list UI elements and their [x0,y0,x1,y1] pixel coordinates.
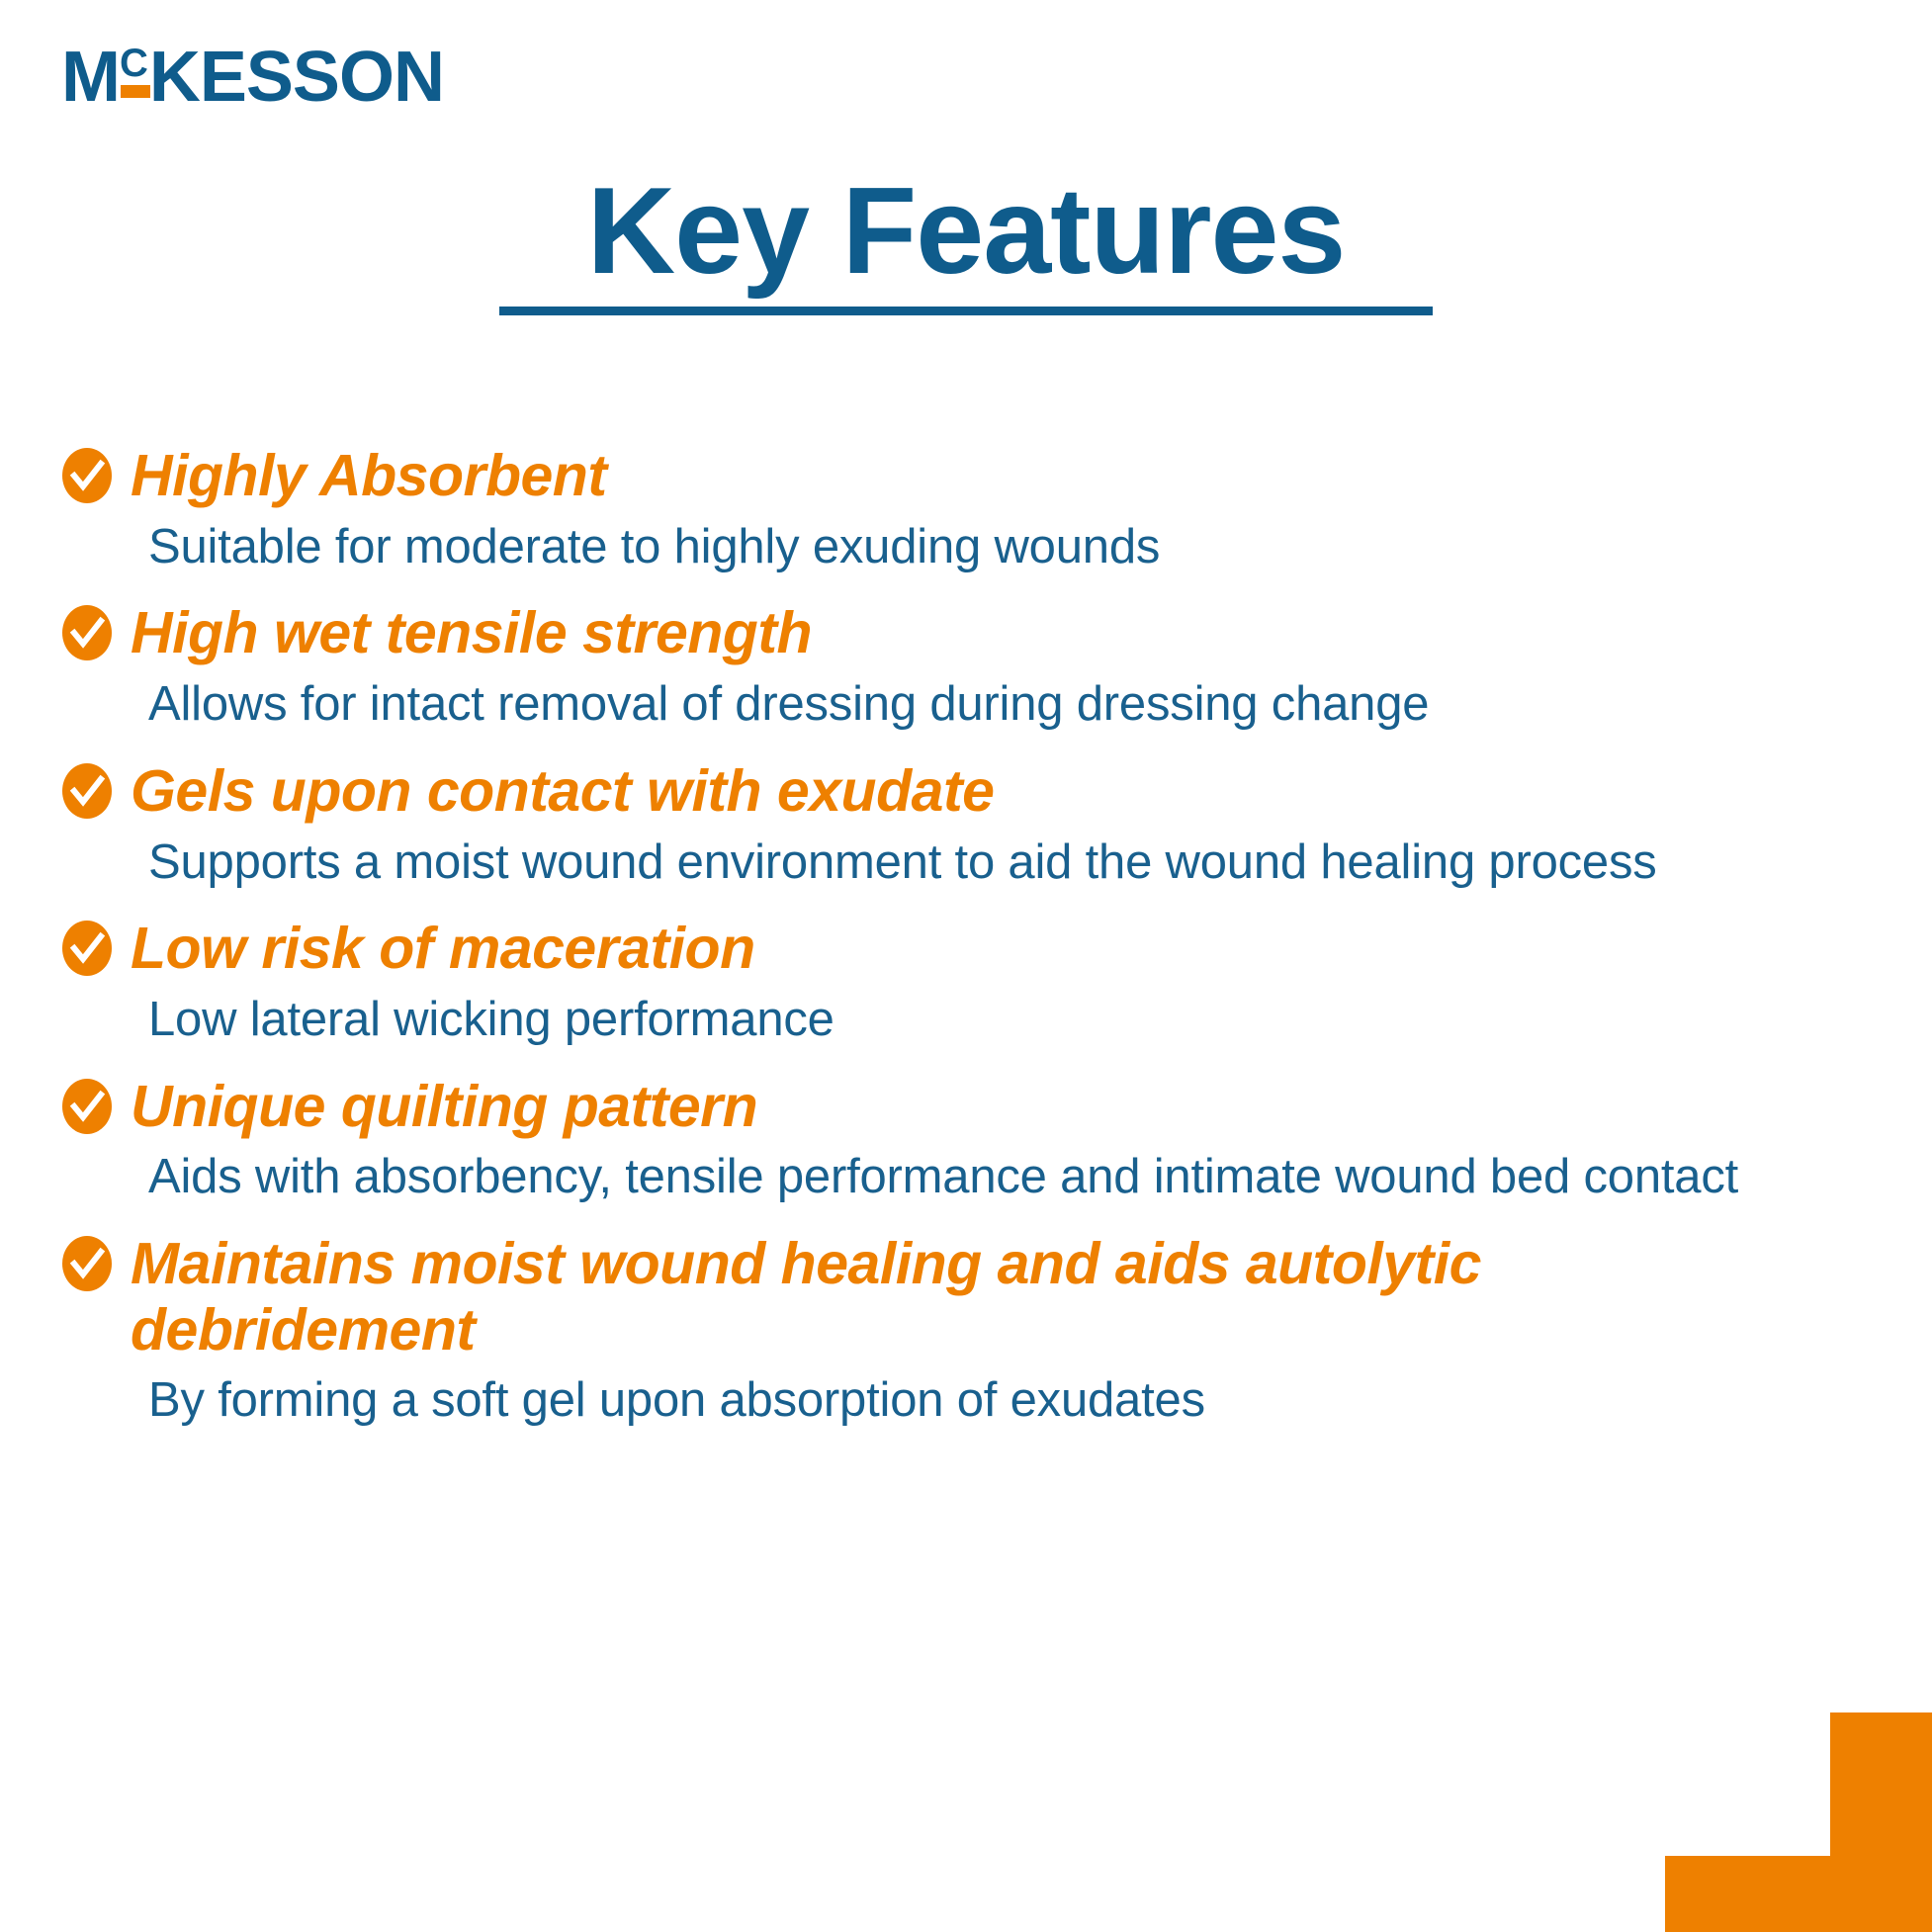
key-features-page: M C KESSON Key Features Highly Absorbent… [0,0,1932,1932]
feature-item: High wet tensile strength Allows for int… [61,600,1762,734]
feature-heading-row: Low risk of maceration [61,916,1762,982]
feature-title: Unique quilting pattern [131,1074,757,1140]
orange-underbar-icon [121,85,150,98]
check-circle-icon [61,604,113,661]
orange-corner-bracket-icon [1665,1712,1932,1932]
feature-description: Aids with absorbency, tensile performanc… [148,1148,1762,1207]
feature-heading-row: Unique quilting pattern [61,1074,1762,1140]
feature-title: Gels upon contact with exudate [131,758,994,825]
page-title: Key Features [587,166,1346,299]
feature-item: Gels upon contact with exudate Supports … [61,758,1762,892]
check-circle-icon [61,1078,113,1135]
check-circle-icon [61,920,113,977]
feature-description: Low lateral wicking performance [148,991,1762,1050]
logo-letter-m: M [61,42,120,113]
feature-description: Allows for intact removal of dressing du… [148,675,1762,735]
corner-bar-horizontal [1665,1856,1932,1932]
mckesson-logo: M C KESSON [61,42,444,113]
logo-letters-kesson: KESSON [149,42,444,113]
feature-heading-row: Gels upon contact with exudate [61,758,1762,825]
feature-list: Highly Absorbent Suitable for moderate t… [61,443,1762,1454]
feature-description: By forming a soft gel upon absorption of… [148,1371,1762,1431]
feature-title: Low risk of maceration [131,916,755,982]
feature-title: Highly Absorbent [131,443,607,509]
feature-description: Supports a moist wound environment to ai… [148,834,1762,893]
feature-heading-row: Highly Absorbent [61,443,1762,509]
logo-superscript-wrap: C [120,42,148,81]
feature-item: Maintains moist wound healing and aids a… [61,1231,1762,1431]
logo-superscript-c: C [120,44,148,83]
check-circle-icon [61,762,113,820]
feature-item: Low risk of maceration Low lateral wicki… [61,916,1762,1049]
page-title-block: Key Features [0,166,1932,315]
title-underline-rule [499,307,1433,315]
check-circle-icon [61,1235,113,1292]
feature-title: High wet tensile strength [131,600,812,666]
feature-item: Highly Absorbent Suitable for moderate t… [61,443,1762,576]
feature-description: Suitable for moderate to highly exuding … [148,518,1762,577]
feature-heading-row: Maintains moist wound healing and aids a… [61,1231,1762,1362]
check-circle-icon [61,447,113,504]
feature-heading-row: High wet tensile strength [61,600,1762,666]
feature-title: Maintains moist wound healing and aids a… [131,1231,1762,1362]
feature-item: Unique quilting pattern Aids with absorb… [61,1074,1762,1207]
